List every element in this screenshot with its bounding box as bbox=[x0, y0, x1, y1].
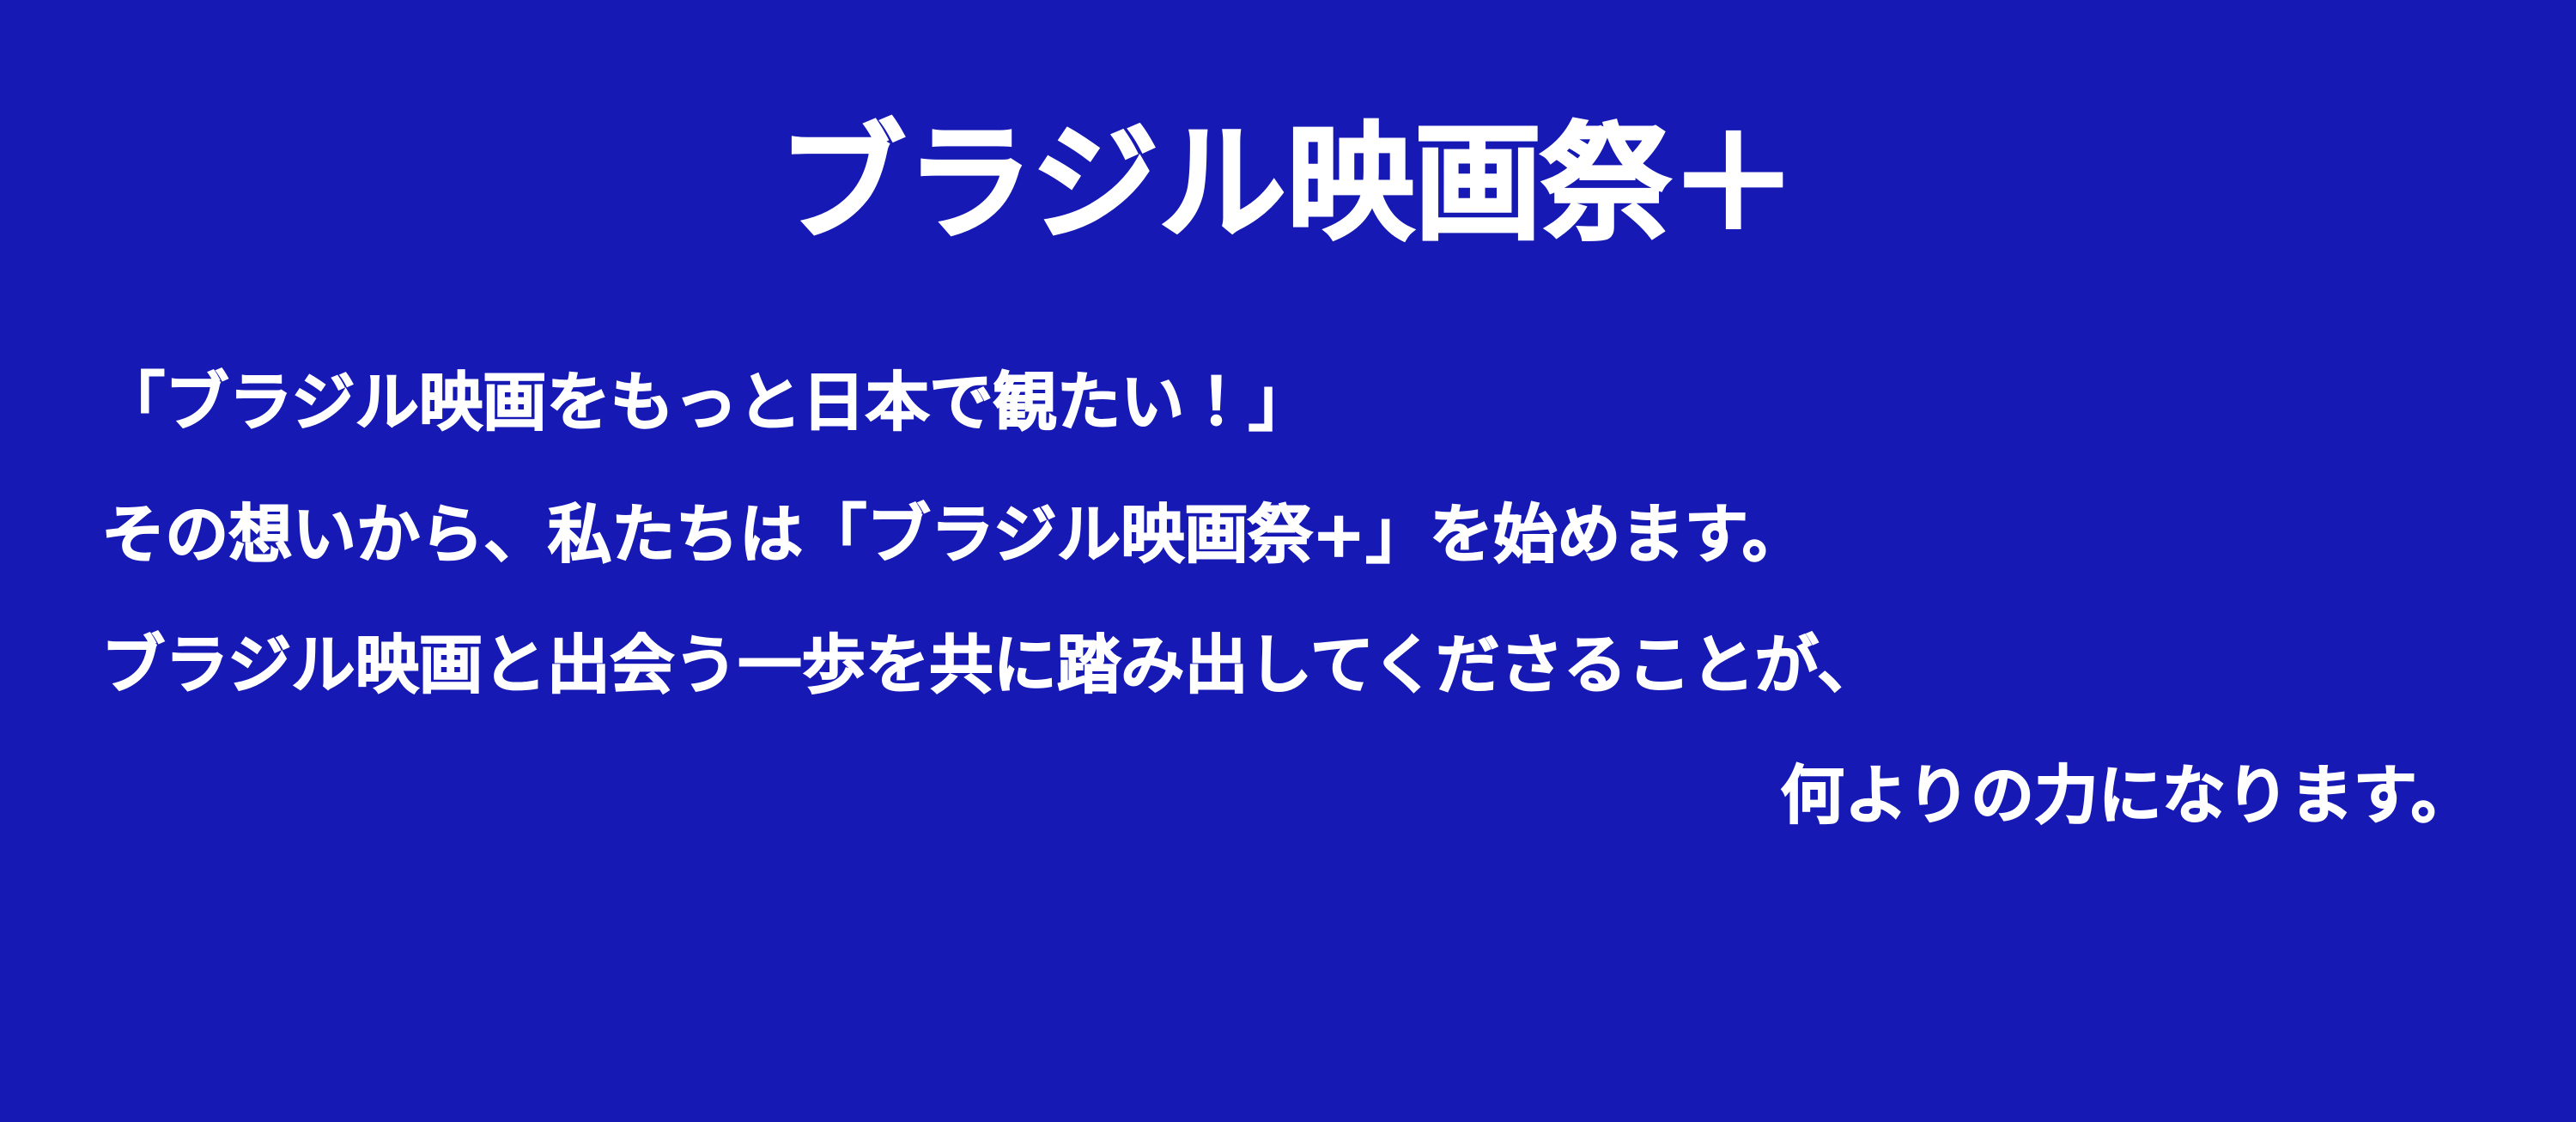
page-title: ブラジル映画祭＋ bbox=[779, 116, 1798, 253]
slide-canvas: ブラジル映画祭＋ 「ブラジル映画をもっと日本で観たい！」 その想いから、私たちは… bbox=[0, 0, 2576, 1122]
body-line-2: その想いから、私たちは「ブラジル映画祭+」を始めます。 bbox=[101, 503, 2475, 567]
body-copy-block: 「ブラジル映画をもっと日本で観たい！」 その想いから、私たちは「ブラジル映画祭+… bbox=[101, 371, 2475, 828]
body-line-4: 何よりの力になります。 bbox=[101, 764, 2475, 828]
title-block: ブラジル映画祭＋ bbox=[0, 31, 2576, 338]
body-line-3: ブラジル映画と出会う一歩を共に踏み出してくださることが、 bbox=[101, 634, 2475, 697]
body-line-1: 「ブラジル映画をもっと日本で観たい！」 bbox=[101, 371, 2475, 434]
